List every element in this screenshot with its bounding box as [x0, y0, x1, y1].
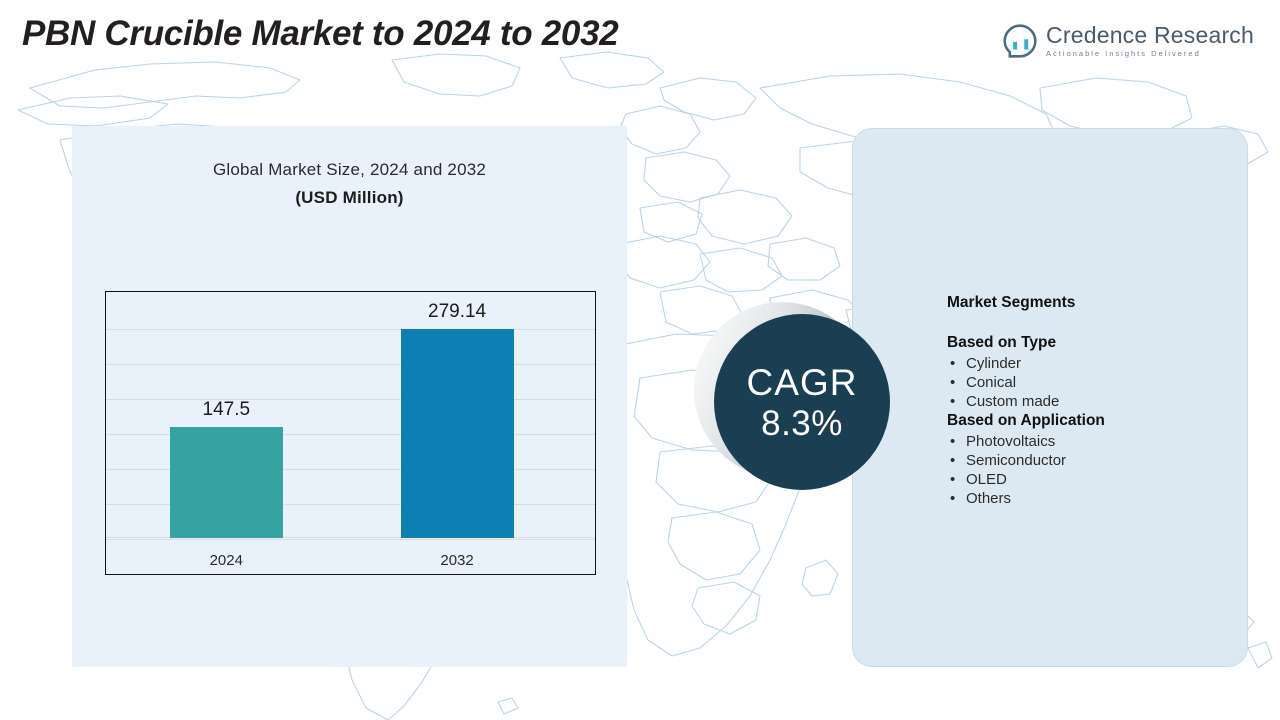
segment-item-label: Conical: [966, 374, 1016, 391]
segment-item-label: Custom made: [966, 393, 1059, 410]
bullet-icon: •: [950, 470, 955, 489]
segment-item-label: Cylinder: [966, 355, 1021, 372]
bullet-icon: •: [950, 432, 955, 451]
segment-list-item: •Others: [947, 489, 1233, 508]
segment-list-item: •Custom made: [947, 392, 1233, 411]
chart-plot-area: 147.52024279.142032: [105, 291, 596, 575]
segment-item-label: Semiconductor: [966, 452, 1066, 469]
page-title: PBN Crucible Market to 2024 to 2032: [22, 14, 618, 54]
segment-item-label: Others: [966, 490, 1011, 507]
segment-group-title: Based on Application: [947, 412, 1233, 430]
market-segments-content: Market Segments Based on Type•Cylinder•C…: [947, 294, 1233, 508]
segment-list-item: •Conical: [947, 373, 1233, 392]
segment-group-title: Based on Type: [947, 334, 1233, 352]
segment-list-item: •OLED: [947, 470, 1233, 489]
bar-group: 279.142032: [401, 329, 514, 538]
segment-list-item: •Semiconductor: [947, 451, 1233, 470]
bar-value-label: 147.5: [203, 399, 251, 421]
segment-list: •Photovoltaics•Semiconductor•OLED•Others: [947, 432, 1233, 509]
infographic-page: PBN Crucible Market to 2024 to 2032 Cred…: [0, 0, 1280, 720]
chart-title: Global Market Size, 2024 and 2032: [72, 160, 627, 180]
segment-list: •Cylinder•Conical•Custom made: [947, 354, 1233, 412]
bar: [401, 329, 514, 538]
bar-value-label: 279.14: [428, 301, 486, 323]
segment-item-label: OLED: [966, 471, 1007, 488]
header: PBN Crucible Market to 2024 to 2032 Cred…: [0, 0, 1280, 72]
chart-panel: Global Market Size, 2024 and 2032 (USD M…: [72, 126, 627, 667]
market-segments-heading: Market Segments: [947, 294, 1233, 312]
chart-bars: 147.52024279.142032: [106, 292, 595, 574]
bullet-icon: •: [950, 354, 955, 373]
brand-logo: Credence Research Actionable Insights De…: [1003, 24, 1254, 58]
cagr-label: CAGR: [747, 364, 858, 401]
bar-group: 147.52024: [170, 427, 283, 538]
bar-category-label: 2024: [210, 552, 243, 569]
logo-name: Credence Research: [1046, 24, 1254, 47]
segment-item-label: Photovoltaics: [966, 433, 1055, 450]
bar-category-label: 2032: [440, 552, 473, 569]
bullet-icon: •: [950, 373, 955, 392]
segment-list-item: •Cylinder: [947, 354, 1233, 373]
bar-chart-circle-icon: [1003, 24, 1037, 58]
cagr-value: 8.3%: [761, 406, 843, 441]
bullet-icon: •: [950, 392, 955, 411]
cagr-circle: CAGR 8.3%: [714, 314, 890, 490]
chart-subtitle: (USD Million): [72, 188, 627, 208]
bar: [170, 427, 283, 538]
cagr-badge: CAGR 8.3%: [694, 302, 890, 498]
logo-text: Credence Research Actionable Insights De…: [1046, 24, 1254, 58]
segment-list-item: •Photovoltaics: [947, 432, 1233, 451]
logo-tagline: Actionable Insights Delivered: [1046, 50, 1254, 58]
bullet-icon: •: [950, 489, 955, 508]
bullet-icon: •: [950, 451, 955, 470]
market-segments-panel: Market Segments Based on Type•Cylinder•C…: [852, 128, 1248, 667]
